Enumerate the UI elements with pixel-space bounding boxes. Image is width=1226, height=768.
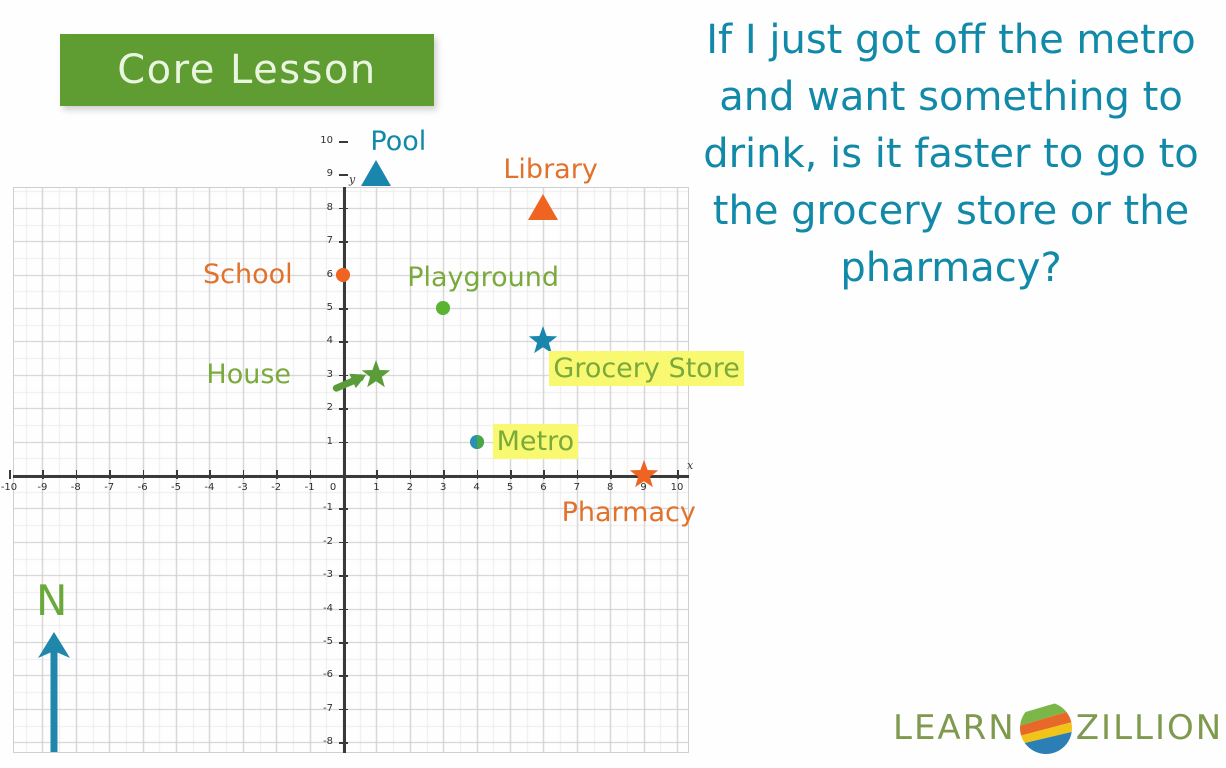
y-tick-label: -4 (311, 603, 333, 614)
x-tick-label: 3 (433, 482, 453, 493)
label-grocery-store: Grocery Store (549, 355, 743, 382)
y-tick-label: 6 (311, 269, 333, 280)
x-tick (109, 470, 111, 479)
y-tick-label: -1 (311, 502, 333, 513)
x-tick-label: 8 (600, 482, 620, 493)
x-tick (276, 470, 278, 479)
y-tick (339, 542, 348, 544)
label-library: Library (503, 156, 597, 183)
core-lesson-label: Core Lesson (117, 47, 377, 93)
x-tick (9, 470, 11, 479)
logo-word-zillion: ZILLION (1076, 708, 1223, 748)
x-tick-label: -4 (199, 482, 219, 493)
x-tick-label: -10 (0, 482, 19, 493)
y-tick-label: 7 (311, 235, 333, 246)
x-tick (577, 470, 579, 479)
x-tick (76, 470, 78, 479)
y-tick-label: 10 (311, 135, 333, 146)
x-tick (176, 470, 178, 479)
x-tick-label: 4 (467, 482, 487, 493)
x-tick-label: 5 (500, 482, 520, 493)
coordinate-plane: -10-9-8-7-6-5-4-3-2-1012345678910-10-9-8… (13, 187, 689, 753)
marker-house[interactable] (359, 358, 393, 392)
y-tick (339, 709, 348, 711)
y-tick-label: -2 (311, 536, 333, 547)
x-tick-label: 1 (366, 482, 386, 493)
x-tick (143, 470, 145, 479)
place-label-text: House (206, 359, 291, 390)
marker-library[interactable] (526, 191, 560, 225)
x-tick-label: 10 (667, 482, 687, 493)
label-pharmacy: Pharmacy (562, 499, 696, 526)
x-tick (410, 470, 412, 479)
y-tick-label: 1 (311, 436, 333, 447)
y-tick (339, 141, 348, 143)
x-tick-label: -7 (99, 482, 119, 493)
place-label-text: Pool (370, 126, 426, 157)
y-tick (339, 341, 348, 343)
place-label-text: Library (503, 154, 597, 185)
marker-pool[interactable] (359, 157, 393, 191)
y-tick (339, 408, 348, 410)
y-tick-label: 2 (311, 402, 333, 413)
label-playground: Playground (407, 264, 559, 291)
y-tick (339, 508, 348, 510)
y-tick-label: 5 (311, 302, 333, 313)
question-prompt: If I just got off the metro and want som… (684, 12, 1218, 297)
x-axis (13, 475, 689, 478)
y-tick-label: -7 (311, 703, 333, 714)
compass-north-indicator: N (24, 576, 84, 756)
x-tick-label: -5 (166, 482, 186, 493)
compass-label: N (36, 576, 67, 625)
logo-word-learn: LEARN (893, 708, 1016, 748)
y-tick (339, 575, 348, 577)
y-tick-label: -6 (311, 669, 333, 680)
slide-canvas: Core Lesson If I just got off the metro … (0, 0, 1226, 768)
x-tick-label: -8 (66, 482, 86, 493)
y-tick (339, 375, 348, 377)
x-tick (477, 470, 479, 479)
x-tick (310, 470, 312, 479)
x-tick-label: -3 (233, 482, 253, 493)
x-tick-label: 2 (400, 482, 420, 493)
x-tick-label: -1 (300, 482, 320, 493)
y-tick-label: -3 (311, 569, 333, 580)
y-tick (339, 675, 348, 677)
y-tick-label: -8 (311, 736, 333, 747)
x-tick-label: 7 (567, 482, 587, 493)
globe-icon (1018, 700, 1074, 756)
label-school: School (203, 261, 293, 288)
x-tick (443, 470, 445, 479)
y-tick (339, 208, 348, 210)
place-label-text: Playground (407, 262, 559, 293)
label-pool: Pool (370, 128, 426, 155)
y-tick (339, 241, 348, 243)
place-label-text: School (203, 259, 293, 290)
y-tick-label: 3 (311, 369, 333, 380)
x-tick-label: -6 (133, 482, 153, 493)
marker-pharmacy[interactable] (627, 458, 661, 492)
x-axis-label: x (687, 459, 693, 472)
x-tick (42, 470, 44, 479)
core-lesson-banner: Core Lesson (60, 34, 434, 106)
north-arrow-icon (24, 624, 84, 756)
y-tick (339, 609, 348, 611)
label-house: House (206, 361, 291, 388)
place-label-text: Pharmacy (562, 497, 696, 528)
x-tick-label: -9 (32, 482, 52, 493)
marker-metro[interactable] (465, 430, 489, 454)
x-tick-label: 0 (323, 482, 343, 493)
y-tick (339, 642, 348, 644)
label-metro: Metro (493, 428, 579, 455)
y-axis-label: y (349, 173, 355, 186)
learnzillion-logo: LEARN ZILLION (893, 700, 1223, 756)
x-tick (543, 470, 545, 479)
marker-school[interactable] (331, 263, 355, 287)
x-tick-label: 6 (533, 482, 553, 493)
y-tick (339, 742, 348, 744)
x-tick (376, 470, 378, 479)
y-tick (339, 442, 348, 444)
x-tick (610, 470, 612, 479)
x-tick-label: -2 (266, 482, 286, 493)
x-tick (243, 470, 245, 479)
x-tick (209, 470, 211, 479)
y-tick-label: 8 (311, 202, 333, 213)
y-tick (339, 174, 348, 176)
y-tick-label: 9 (311, 168, 333, 179)
marker-playground[interactable] (431, 296, 455, 320)
x-tick (677, 470, 679, 479)
place-label-text: Metro (493, 424, 579, 459)
y-tick (339, 308, 348, 310)
y-tick-label: -5 (311, 636, 333, 647)
x-tick (510, 470, 512, 479)
y-tick-label: 4 (311, 335, 333, 346)
place-label-text: Grocery Store (549, 351, 743, 386)
